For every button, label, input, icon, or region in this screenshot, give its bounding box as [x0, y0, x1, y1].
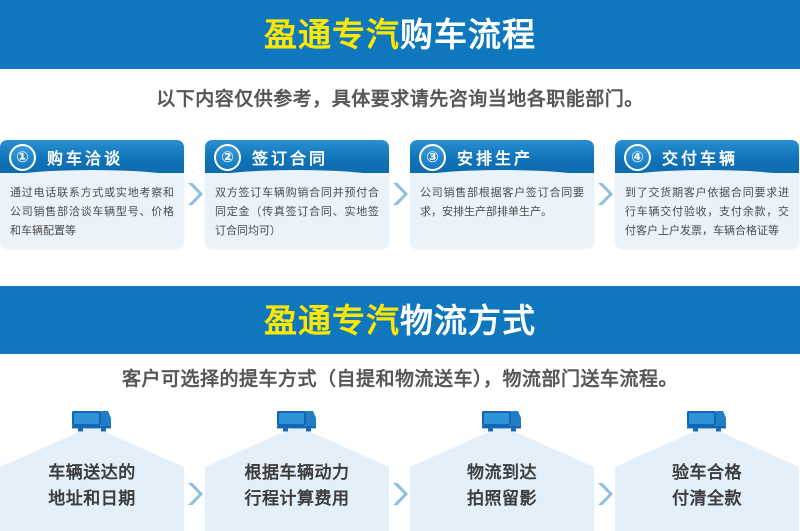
purchase-step-body-2: 双方签订车辆购销合同并预付合同定金（传真签订合同、实地签订合同均可） [205, 173, 389, 247]
purchase-step-arrow-3 [594, 140, 615, 248]
truck-icon [275, 408, 319, 434]
logistics-step-text-2: 根据车辆动力 行程计算费用 [205, 460, 389, 513]
chevron-right-icon [186, 481, 203, 507]
purchase-and-logistics-infographic: 盈通专汽购车流程 以下内容仅供参考，具体要求请先咨询当地各职能部门。 ① 购车洽… [0, 0, 800, 531]
purchase-banner: 盈通专汽购车流程 [0, 0, 800, 69]
purchase-step-card-1[interactable]: ① 购车洽谈 通过电话联系方式或实地考察和公司销售部洽谈车辆型号、价格和车辆配置… [0, 140, 184, 248]
chevron-right-icon [596, 181, 613, 207]
purchase-step-card-2[interactable]: ② 签订合同 双方签订车辆购销合同并预付合同定金（传真签订合同、实地签订合同均可… [205, 140, 389, 248]
logistics-step-card-3[interactable]: 物流到达 拍照留影 [410, 408, 594, 531]
purchase-step-body-3: 公司销售部根据客户签订合同要求，安排生产部排单生产。 [410, 173, 594, 228]
logistics-steps-row: 车辆送达的 地址和日期 根据车辆动力 行程计算费用 [0, 408, 800, 531]
chevron-right-icon [186, 181, 203, 207]
purchase-step-card-4[interactable]: ④ 交付车辆 到了交货期客户依据合同要求进行车辆交付验收，支付余款，交付客户上户… [615, 140, 799, 248]
purchase-step-number-1: ① [9, 144, 36, 171]
purchase-step-title-2: 签订合同 [252, 145, 328, 169]
purchase-step-number-4: ④ [624, 144, 651, 171]
logistics-step-card-1[interactable]: 车辆送达的 地址和日期 [0, 408, 184, 531]
logistics-step-line1-4: 验车合格 [615, 460, 799, 486]
purchase-step-title-3: 安排生产 [457, 145, 533, 169]
purchase-step-number-3: ③ [419, 144, 446, 171]
logistics-banner: 盈通专汽物流方式 [0, 286, 800, 354]
chevron-right-icon [391, 481, 408, 507]
purchase-step-header-1: ① 购车洽谈 [0, 140, 184, 173]
logistics-step-text-1: 车辆送达的 地址和日期 [0, 460, 184, 513]
purchase-step-header-3: ③ 安排生产 [410, 140, 594, 173]
purchase-banner-brand: 盈通专汽 [264, 16, 400, 53]
logistics-step-line1-2: 根据车辆动力 [205, 460, 389, 486]
logistics-subtitle: 客户可选择的提车方式（自提和物流送车），物流部门送车流程。 [0, 364, 800, 391]
purchase-step-title-4: 交付车辆 [662, 145, 738, 169]
logistics-step-arrow-1 [184, 408, 205, 531]
purchase-step-header-2: ② 签订合同 [205, 140, 389, 173]
logistics-step-text-4: 验车合格 付清全款 [615, 460, 799, 513]
logistics-step-line2-2: 行程计算费用 [205, 486, 389, 512]
purchase-step-body-1: 通过电话联系方式或实地考察和公司销售部洽谈车辆型号、价格和车辆配置等 [0, 173, 184, 247]
logistics-step-line1-1: 车辆送达的 [0, 460, 184, 486]
purchase-step-arrow-2 [389, 140, 410, 248]
logistics-step-line1-3: 物流到达 [410, 460, 594, 486]
logistics-banner-rest: 物流方式 [400, 302, 536, 339]
chevron-right-icon [596, 481, 613, 507]
truck-icon [70, 408, 114, 434]
purchase-steps-row: ① 购车洽谈 通过电话联系方式或实地考察和公司销售部洽谈车辆型号、价格和车辆配置… [0, 140, 800, 250]
logistics-step-arrow-3 [594, 408, 615, 531]
purchase-step-header-4: ④ 交付车辆 [615, 140, 799, 173]
logistics-step-text-3: 物流到达 拍照留影 [410, 460, 594, 513]
truck-icon [480, 408, 524, 434]
purchase-step-arrow-1 [184, 140, 205, 248]
logistics-step-card-4[interactable]: 验车合格 付清全款 [615, 408, 799, 531]
logistics-step-line2-1: 地址和日期 [0, 486, 184, 512]
logistics-step-line2-3: 拍照留影 [410, 486, 594, 512]
purchase-step-title-1: 购车洽谈 [47, 145, 123, 169]
logistics-banner-brand: 盈通专汽 [264, 302, 400, 339]
purchase-step-body-4: 到了交货期客户依据合同要求进行车辆交付验收，支付余款，交付客户上户发票，车辆合格… [615, 173, 799, 247]
logistics-step-card-2[interactable]: 根据车辆动力 行程计算费用 [205, 408, 389, 531]
logistics-banner-title: 盈通专汽物流方式 [264, 304, 536, 337]
logistics-step-line2-4: 付清全款 [615, 486, 799, 512]
purchase-banner-title: 盈通专汽购车流程 [264, 18, 536, 51]
chevron-right-icon [391, 181, 408, 207]
purchase-subtitle: 以下内容仅供参考，具体要求请先咨询当地各职能部门。 [0, 84, 800, 111]
purchase-banner-rest: 购车流程 [400, 16, 536, 53]
purchase-step-card-3[interactable]: ③ 安排生产 公司销售部根据客户签订合同要求，安排生产部排单生产。 [410, 140, 594, 248]
purchase-step-number-2: ② [214, 144, 241, 171]
logistics-step-arrow-2 [389, 408, 410, 531]
truck-icon [685, 408, 729, 434]
